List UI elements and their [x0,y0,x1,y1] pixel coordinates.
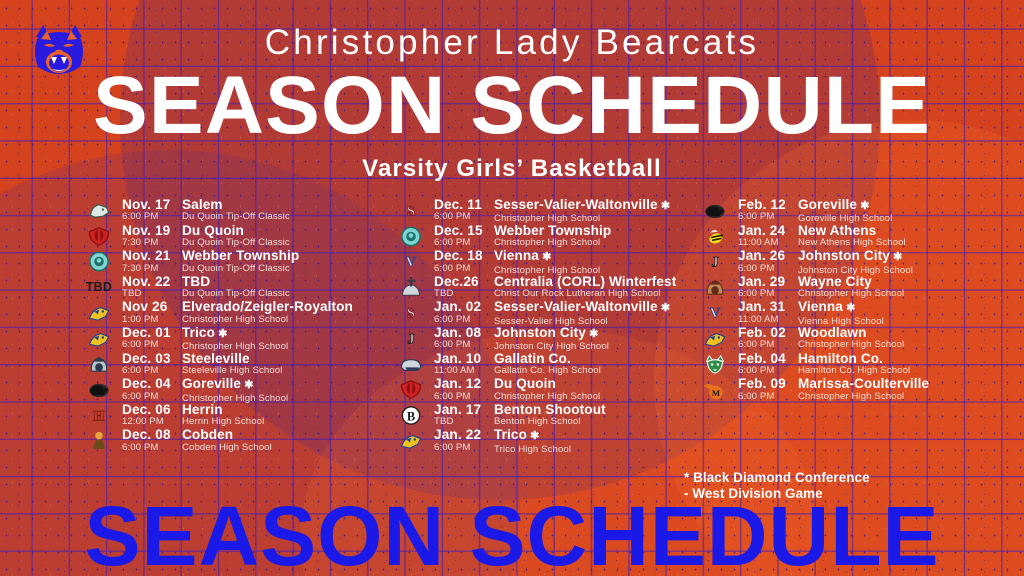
game-opponent: Vienna ✱ [494,249,696,264]
game-opponent: Trico ✱ [494,428,696,443]
game-time: 6:00 PM [122,339,182,351]
game-opponent-label: Trico [494,427,527,442]
game-what: Trico ✱Christopher High School [182,326,404,354]
game-opponent: Gallatin Co. [494,352,696,365]
svg-text:J: J [711,254,718,270]
svg-text:B: B [407,409,415,423]
game-row[interactable]: Nov. 197:30 PMDu QuoinDu Quoin Tip-Off C… [84,224,404,250]
game-when: Jan. 086:00 PM [434,326,494,352]
game-what: Vienna ✱Vienna High School [798,300,1000,328]
webber-logo [84,250,114,273]
game-date: Feb. 12 [738,198,798,211]
vienna-logo: V [396,250,426,273]
game-what: Webber TownshipDu Quoin Tip-Off Classic [182,249,404,275]
game-opponent: Herrin [182,403,404,416]
game-date: Jan. 02 [434,300,494,313]
game-when: Jan. 226:00 PM [434,428,494,454]
game-time: 7:30 PM [122,263,182,275]
svg-text:V: V [406,254,417,270]
game-date: Jan. 08 [434,326,494,339]
game-venue: Trico High School [494,444,696,456]
game-row[interactable]: VJan. 3111:00 AMVienna ✱Vienna High Scho… [700,300,1000,326]
game-what: Sesser-Valier-Waltonville ✱Sesser-Valier… [494,300,696,328]
conference-star-icon: ✱ [539,251,551,263]
game-opponent-label: Webber Township [182,248,299,263]
marissa-logo: M [700,378,730,401]
woodlawn-logo [700,327,730,350]
game-when: Dec. 156:00 PM [434,224,494,250]
game-row[interactable]: HDec. 0612:00 PMHerrinHerrin High School [84,403,404,429]
game-what: Gallatin Co.Gallatin Co. High School [494,352,696,378]
game-opponent: New Athens [798,224,1000,237]
game-when: Jan. 1011:00 AM [434,352,494,378]
game-what: Du QuoinDu Quoin Tip-Off Classic [182,224,404,250]
game-row[interactable]: Nov 261:00 PMElverado/Zeigler-RoyaltonCh… [84,300,404,326]
game-when: Dec.26TBD [434,275,494,301]
game-date: Dec. 11 [434,198,494,211]
page-title: SEASON SCHEDULE [0,67,1024,146]
game-opponent-label: Goreville [798,197,857,212]
game-opponent-label: Johnston City [798,248,890,263]
game-row[interactable]: Dec. 156:00 PMWebber TownshipChristopher… [396,224,696,250]
game-time: 6:00 PM [738,263,798,275]
vienna-logo: V [700,301,730,324]
game-when: Dec. 186:00 PM [434,249,494,275]
game-when: Dec. 086:00 PM [122,428,182,454]
game-row[interactable]: Feb. 026:00 PMWoodlawnChristopher High S… [700,326,1000,352]
conference-star-icon: ✱ [857,200,869,212]
game-date: Feb. 04 [738,352,798,365]
game-when: Feb. 126:00 PM [738,198,798,224]
game-date: Feb. 09 [738,377,798,390]
svg-text:J: J [407,331,414,347]
game-date: Jan. 26 [738,249,798,262]
game-opponent: Du Quoin [494,377,696,390]
game-venue: Christopher High School [798,391,1000,403]
game-what: SteelevilleSteeleville High School [182,352,404,378]
benton-logo: B [396,404,426,427]
game-date: Jan. 12 [434,377,494,390]
game-what: Du QuoinChristopher High School [494,377,696,403]
game-date: Feb. 02 [738,326,798,339]
season-schedule-poster: Christopher Lady Bearcats SEASON SCHEDUL… [0,0,1024,576]
game-opponent: Centralia (CORL) Winterfest [494,275,696,288]
game-what: Wayne CityChristopher High School [798,275,1000,301]
game-what: SalemDu Quoin Tip-Off Classic [182,198,404,224]
gallatin-logo [396,353,426,376]
game-row[interactable]: SDec. 116:00 PMSesser-Valier-Waltonville… [396,198,696,224]
game-venue: Du Quoin Tip-Off Classic [182,263,404,275]
conference-star-icon: ✱ [241,379,253,391]
game-row[interactable]: Dec.26TBDCentralia (CORL) WinterfestChri… [396,275,696,301]
bottom-banner: SEASON SCHEDULE [0,500,1024,576]
game-opponent: Webber Township [494,224,696,237]
game-when: Nov. 197:30 PM [122,224,182,250]
game-time: 6:00 PM [738,339,798,351]
game-opponent-label: Trico [182,325,215,340]
game-opponent: Cobden [182,428,404,441]
game-time: 6:00 PM [434,263,494,275]
game-time: 6:00 PM [434,391,494,403]
game-date: Dec.26 [434,275,494,288]
game-what: Hamilton Co.Hamilton Co. High School [798,352,1000,378]
game-what: Johnston City ✱Johnston City High School [494,326,696,354]
game-row[interactable]: Jan. 226:00 PMTrico ✱Trico High School [396,428,696,454]
schedule-columns: Nov. 176:00 PMSalemDu Quoin Tip-Off Clas… [0,198,1024,454]
conference-star-icon: ✱ [658,302,670,314]
title-block: Christopher Lady Bearcats SEASON SCHEDUL… [0,22,1024,183]
game-when: Jan. 296:00 PM [738,275,798,301]
goreville-logo [700,199,730,222]
game-opponent: Trico ✱ [182,326,404,341]
footnote-line-2: - West Division Game [684,486,870,502]
game-what: Sesser-Valier-Waltonville ✱Christopher H… [494,198,696,226]
game-row[interactable]: M Feb. 096:00 PMMarissa-CoultervilleChri… [700,377,1000,403]
hamilton-logo [700,353,730,376]
game-venue: Christopher High School [182,314,404,326]
game-opponent-label: Marissa-Coulterville [798,376,929,391]
game-date: Jan. 29 [738,275,798,288]
schedule-column-1: Nov. 176:00 PMSalemDu Quoin Tip-Off Clas… [84,198,404,454]
game-when: Nov. 22TBD [122,275,182,301]
game-row[interactable]: Dec. 016:00 PMTrico ✱Christopher High Sc… [84,326,404,352]
game-when: Feb. 026:00 PM [738,326,798,352]
game-row[interactable]: Jan. 2411:00 AMNew AthensNew Athens High… [700,224,1000,250]
game-opponent: Woodlawn [798,326,1000,339]
game-when: Jan. 2411:00 AM [738,224,798,250]
game-date: Dec. 18 [434,249,494,262]
game-what: TBDDu Quoin Tip-Off Classic [182,275,404,301]
game-when: Jan. 126:00 PM [434,377,494,403]
game-date: Nov. 21 [122,249,182,262]
game-time: 6:00 PM [738,211,798,223]
game-opponent-label: Sesser-Valier-Waltonville [494,299,658,314]
game-row[interactable]: VDec. 186:00 PMVienna ✱Christopher High … [396,249,696,275]
game-row[interactable]: Nov. 217:30 PMWebber TownshipDu Quoin Ti… [84,249,404,275]
wayne-city-logo [700,276,730,299]
du-quoin-logo [84,225,114,248]
game-row[interactable]: Jan. 296:00 PMWayne CityChristopher High… [700,275,1000,301]
game-what: Elverado/Zeigler-RoyaltonChristopher Hig… [182,300,404,326]
herrin-logo: H [84,404,114,427]
game-opponent-label: Vienna [494,248,539,263]
game-opponent-label: Benton Shootout [494,402,606,417]
game-date: Dec. 03 [122,352,182,365]
game-row[interactable]: JJan. 266:00 PMJohnston City ✱Johnston C… [700,249,1000,275]
game-opponent-label: Centralia (CORL) Winterfest [494,274,676,289]
game-what: Vienna ✱Christopher High School [494,249,696,277]
game-row[interactable]: Jan. 126:00 PMDu QuoinChristopher High S… [396,377,696,403]
game-date: Nov. 17 [122,198,182,211]
game-opponent-label: Elverado/Zeigler-Royalton [182,299,353,314]
game-when: Feb. 096:00 PM [738,377,798,403]
svg-text:V: V [710,306,721,322]
game-what: Trico ✱Trico High School [494,428,696,456]
game-opponent: Salem [182,198,404,211]
game-what: Marissa-CoultervilleChristopher High Sch… [798,377,1000,403]
game-opponent-label: Hamilton Co. [798,351,883,366]
game-opponent-label: Vienna [798,299,843,314]
game-opponent-label: Steeleville [182,351,250,366]
game-date: Dec. 06 [122,403,182,416]
game-opponent-label: Cobden [182,427,233,442]
sesser-valier-logo: S [396,199,426,222]
game-row[interactable]: SJan. 026:00 PMSesser-Valier-Waltonville… [396,300,696,326]
game-opponent: Goreville ✱ [182,377,404,392]
conference-star-icon: ✱ [527,430,539,442]
game-date: Nov 26 [122,300,182,313]
game-row[interactable]: Feb. 126:00 PMGoreville ✱Goreville High … [700,198,1000,224]
game-time: 6:00 PM [434,211,494,223]
johnston-city-logo: J [700,250,730,273]
game-opponent: Sesser-Valier-Waltonville ✱ [494,300,696,315]
game-opponent: Vienna ✱ [798,300,1000,315]
game-what: CobdenCobden High School [182,428,404,454]
bottom-banner-text: SEASON SCHEDULE [84,500,939,576]
game-opponent: Johnston City ✱ [798,249,1000,264]
game-when: Dec. 016:00 PM [122,326,182,352]
tbd-badge: TBD [84,276,114,299]
svg-text:S: S [407,203,415,219]
cobden-logo [84,429,114,452]
game-what: Johnston City ✱Johnston City High School [798,249,1000,277]
game-what: Webber TownshipChristopher High School [494,224,696,250]
game-opponent-label: Wayne City [798,274,872,289]
game-venue: Cobden High School [182,442,404,454]
game-date: Jan. 22 [434,428,494,441]
game-opponent-label: Woodlawn [798,325,867,340]
game-time: 6:00 PM [122,442,182,454]
game-when: Jan. 3111:00 AM [738,300,798,326]
game-opponent: Webber Township [182,249,404,262]
game-row[interactable]: Dec. 036:00 PMSteelevilleSteeleville Hig… [84,352,404,378]
game-time: 6:00 PM [434,442,494,454]
game-date: Jan. 31 [738,300,798,313]
game-row[interactable]: TBDNov. 22TBDTBDDu Quoin Tip-Off Classic [84,275,404,301]
svg-text:S: S [407,306,415,322]
conference-star-icon: ✱ [658,200,670,212]
game-opponent-label: Webber Township [494,223,611,238]
salem-logo [84,199,114,222]
game-when: Dec. 0612:00 PM [122,403,182,429]
game-time: 6:00 PM [738,391,798,403]
elverado-logo [84,301,114,324]
game-opponent: Du Quoin [182,224,404,237]
corl-logo [396,276,426,299]
game-opponent: Steeleville [182,352,404,365]
conference-star-icon: ✱ [586,328,598,340]
game-opponent-label: Salem [182,197,223,212]
page-subtitle: Varsity Girls’ Basketball [0,155,1024,183]
game-row[interactable]: Dec. 046:00 PMGoreville ✱Christopher Hig… [84,377,404,403]
game-date: Dec. 04 [122,377,182,390]
game-date: Dec. 15 [434,224,494,237]
game-opponent-label: TBD [182,274,210,289]
game-date: Dec. 01 [122,326,182,339]
game-what: Goreville ✱Goreville High School [798,198,1000,226]
game-what: Benton ShootoutBenton High School [494,403,696,429]
game-when: Nov. 217:30 PM [122,249,182,275]
game-when: Jan. 026:00 PM [434,300,494,326]
trico-logo [84,327,114,350]
game-time: 6:00 PM [122,211,182,223]
game-date: Jan. 17 [434,403,494,416]
game-opponent: Marissa-Coulterville [798,377,1000,390]
du-quoin-logo [396,378,426,401]
game-what: New AthensNew Athens High School [798,224,1000,250]
game-date: Nov. 22 [122,275,182,288]
game-date: Jan. 24 [738,224,798,237]
game-what: WoodlawnChristopher High School [798,326,1000,352]
game-opponent-label: Goreville [182,376,241,391]
trico-logo [396,429,426,452]
game-opponent: Benton Shootout [494,403,696,416]
game-row[interactable]: JJan. 086:00 PMJohnston City ✱Johnston C… [396,326,696,352]
game-when: Jan. 266:00 PM [738,249,798,275]
svg-text:M: M [712,388,720,398]
conference-star-icon: ✱ [843,302,855,314]
game-opponent-label: Gallatin Co. [494,351,571,366]
game-opponent-label: Herrin [182,402,223,417]
game-opponent: Elverado/Zeigler-Royalton [182,300,404,313]
game-what: Goreville ✱Christopher High School [182,377,404,405]
schedule-column-2: SDec. 116:00 PMSesser-Valier-Waltonville… [396,198,696,454]
team-name: Christopher Lady Bearcats [0,22,1024,63]
game-when: Dec. 046:00 PM [122,377,182,403]
game-opponent-label: Du Quoin [494,376,556,391]
game-when: Jan. 17TBD [434,403,494,429]
game-row[interactable]: Jan. 1011:00 AMGallatin Co.Gallatin Co. … [396,352,696,378]
game-what: HerrinHerrin High School [182,403,404,429]
game-opponent: Goreville ✱ [798,198,1000,213]
game-when: Nov. 176:00 PM [122,198,182,224]
game-date: Jan. 10 [434,352,494,365]
game-row[interactable]: BJan. 17TBDBenton ShootoutBenton High Sc… [396,403,696,429]
game-opponent-label: Du Quoin [182,223,244,238]
game-opponent-label: Johnston City [494,325,586,340]
game-opponent: Johnston City ✱ [494,326,696,341]
conference-star-icon: ✱ [215,328,227,340]
webber-logo [396,225,426,248]
game-row[interactable]: Feb. 046:00 PMHamilton Co.Hamilton Co. H… [700,352,1000,378]
game-when: Dec. 116:00 PM [434,198,494,224]
conference-footnote: * Black Diamond Conference - West Divisi… [684,470,870,501]
game-opponent-label: Sesser-Valier-Waltonville [494,197,658,212]
johnston-city-logo: J [396,327,426,350]
goreville-logo [84,378,114,401]
game-what: Centralia (CORL) WinterfestChrist Our Ro… [494,275,696,301]
game-row[interactable]: Dec. 086:00 PMCobdenCobden High School [84,428,404,454]
game-opponent: Wayne City [798,275,1000,288]
game-when: Dec. 036:00 PM [122,352,182,378]
game-opponent: TBD [182,275,404,288]
new-athens-logo [700,225,730,248]
game-when: Nov 261:00 PM [122,300,182,326]
game-row[interactable]: Nov. 176:00 PMSalemDu Quoin Tip-Off Clas… [84,198,404,224]
game-date: Dec. 08 [122,428,182,441]
svg-text:H: H [93,408,104,424]
game-time: 6:00 PM [434,339,494,351]
steeleville-logo [84,353,114,376]
conference-star-icon: ✱ [890,251,902,263]
game-opponent: Sesser-Valier-Waltonville ✱ [494,198,696,213]
sesser-valier-logo: S [396,301,426,324]
game-opponent: Hamilton Co. [798,352,1000,365]
game-time: 6:00 PM [122,391,182,403]
game-when: Feb. 046:00 PM [738,352,798,378]
game-date: Nov. 19 [122,224,182,237]
footnote-line-1: * Black Diamond Conference [684,470,870,486]
schedule-column-3: Feb. 126:00 PMGoreville ✱Goreville High … [700,198,1000,454]
game-opponent-label: New Athens [798,223,876,238]
